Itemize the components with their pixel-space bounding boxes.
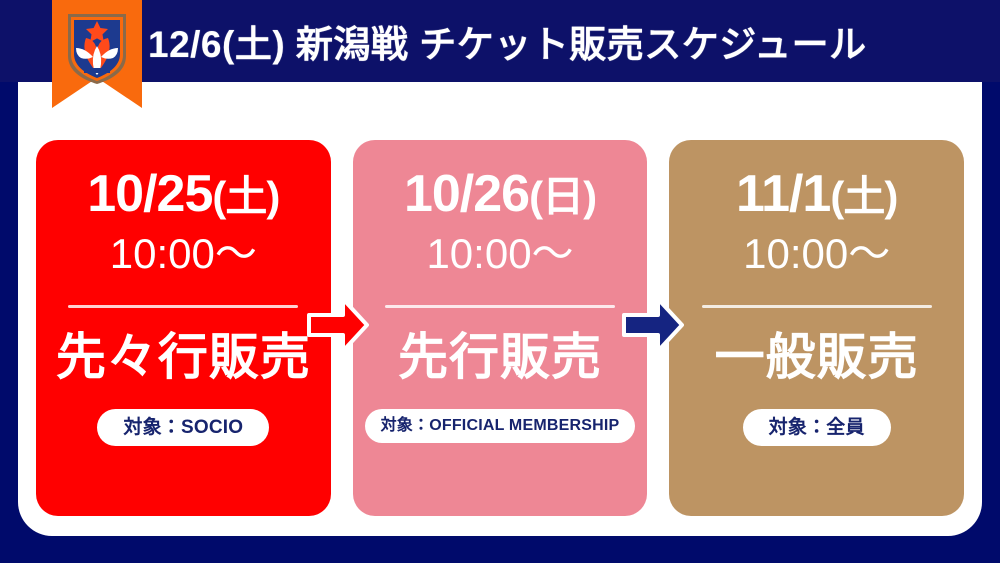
card-ippan[interactable]: 11/1(土) 10:00〜 一般販売 対象：全員 <box>669 140 964 516</box>
card-date-value: 11/1 <box>736 165 830 223</box>
card-date: 10/25(土) <box>87 166 279 222</box>
card-sale-type: 先々行販売 <box>56 330 311 385</box>
card-sale-type: 一般販売 <box>715 330 919 385</box>
card-date: 10/26(日) <box>404 166 596 222</box>
ticket-schedule-poster: 12/6(土) 新潟戦 チケット販売スケジュール 10/25(土) 10:00〜… <box>0 0 1000 563</box>
card-target-badge: 対象：OFFICIAL MEMBERSHIP <box>365 409 636 443</box>
albirex-niigata-crest-icon <box>62 8 132 86</box>
arrow-step-2-to-3-icon <box>622 296 684 354</box>
card-saki-sakigyo[interactable]: 10/25(土) 10:00〜 先々行販売 対象：SOCIO <box>36 140 331 516</box>
card-divider <box>68 305 298 308</box>
card-date-dow: (土) <box>830 173 897 220</box>
card-sale-type: 先行販売 <box>398 330 602 385</box>
card-time: 10:00〜 <box>110 228 257 281</box>
card-date-dow: (土) <box>212 173 279 220</box>
card-target-badge: 対象：全員 <box>743 409 891 446</box>
card-sakigyo[interactable]: 10/26(日) 10:00〜 先行販売 対象：OFFICIAL MEMBERS… <box>353 140 648 516</box>
card-time: 10:00〜 <box>426 228 573 281</box>
card-target-badge: 対象：SOCIO <box>97 409 269 446</box>
sales-schedule-cards: 10/25(土) 10:00〜 先々行販売 対象：SOCIO 10/26(日) … <box>36 140 964 516</box>
card-date-dow: (日) <box>529 173 596 220</box>
card-divider <box>702 305 932 308</box>
card-date-value: 10/26 <box>404 165 529 223</box>
header-bar: 12/6(土) 新潟戦 チケット販売スケジュール <box>0 0 1000 82</box>
card-date: 11/1(土) <box>736 166 897 222</box>
card-time: 10:00〜 <box>743 228 890 281</box>
page-title: 12/6(土) 新潟戦 チケット販売スケジュール <box>148 0 867 82</box>
card-date-value: 10/25 <box>87 165 212 223</box>
card-divider <box>385 305 615 308</box>
arrow-step-1-to-2-icon <box>307 296 369 354</box>
